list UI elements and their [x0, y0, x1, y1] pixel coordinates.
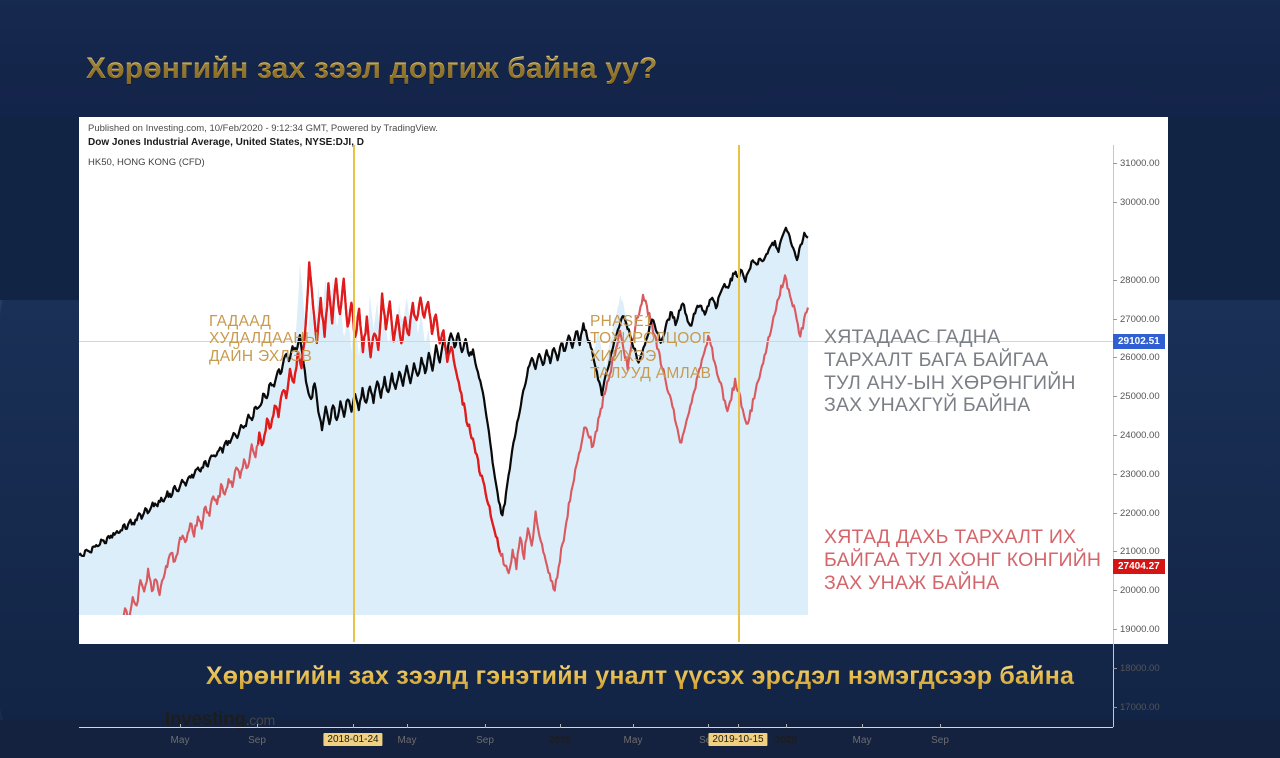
slide-subtitle: Хөрөнгийн зах зээлд гэнэтийн уналт үүсэх… [0, 662, 1280, 691]
price-tick-dash [1113, 396, 1117, 397]
watermark-suffix: .com [246, 712, 275, 728]
price-tick-label: 31000.00 [1120, 158, 1160, 169]
price-tick-dash [1113, 280, 1117, 281]
time-tick [940, 724, 941, 728]
time-tick-label: May [624, 735, 643, 746]
chart-panel: Published on Investing.com, 10/Feb/2020 … [79, 117, 1168, 644]
price-tick: 22000.00 [1113, 508, 1168, 520]
time-axis[interactable]: MaySep2018-01-24MaySep2019MaySep2019-10-… [79, 727, 1113, 758]
price-tick: 27000.00 [1113, 314, 1168, 326]
price-tick-dash [1113, 319, 1117, 320]
time-tick-label: 2019 [549, 735, 571, 746]
price-tick-label: 25000.00 [1120, 391, 1160, 402]
page-title: Хөрөнгийн зах зээл доргиж байна уу? [86, 52, 658, 86]
time-tick-label: 2020 [775, 735, 797, 746]
price-tick: 21000.00 [1113, 546, 1168, 558]
price-tick: 28000.00 [1113, 275, 1168, 287]
price-tick-label: 30000.00 [1120, 197, 1160, 208]
chart-published-label: Published on Investing.com, 10/Feb/2020 … [88, 123, 438, 134]
price-tick-dash [1113, 474, 1117, 475]
time-tick-label: Sep [248, 735, 266, 746]
price-tick-label: 26000.00 [1120, 352, 1160, 363]
price-tick: 20000.00 [1113, 585, 1168, 597]
price-tick-dash [1113, 668, 1117, 669]
price-tick-label: 28000.00 [1120, 275, 1160, 286]
price-tick: 30000.00 [1113, 197, 1168, 209]
time-tick [485, 724, 486, 728]
price-tick-label: 24000.00 [1120, 430, 1160, 441]
price-tick-dash [1113, 435, 1117, 436]
annotation-phase1: PHASE1 ТОХИРОЛЦООГ ХИЙХЭЭ ТАЛУУД АМЛАВ [590, 313, 711, 382]
price-tick-dash [1113, 707, 1117, 708]
time-tick [257, 724, 258, 728]
price-tick: 19000.00 [1113, 624, 1168, 636]
time-tick [786, 724, 787, 728]
price-tick-label: 18000.00 [1120, 663, 1160, 674]
time-tick-label: Sep [931, 735, 949, 746]
price-tick: 31000.00 [1113, 158, 1168, 170]
price-axis[interactable]: 31000.0030000.0028000.0027000.0026000.00… [1113, 145, 1168, 727]
event-line-2018-01-24 [353, 145, 355, 642]
price-tick-dash [1113, 513, 1117, 514]
price-tick-dash [1113, 163, 1117, 164]
annotation-trade-war: ГАДААД ХУДАЛДААНЫ ДАЙН ЭХЛЭВ [209, 313, 319, 365]
price-tick-label: 27000.00 [1120, 314, 1160, 325]
event-line-2019-10-15 [738, 145, 740, 642]
time-tick-label: May [398, 735, 417, 746]
time-tick-label: 2018-01-24 [323, 733, 382, 746]
price-tick-dash [1113, 357, 1117, 358]
price-tick-dash [1113, 551, 1117, 552]
price-tick: 25000.00 [1113, 391, 1168, 403]
chart-shaded-area [79, 228, 808, 615]
price-tick-label: 19000.00 [1120, 624, 1160, 635]
time-tick [738, 724, 739, 728]
annotation-us-market: ХЯТАДААС ГАДНА ТАРХАЛТ БАГА БАЙГАА ТУЛ А… [824, 326, 1076, 417]
price-tick-label: 21000.00 [1120, 546, 1160, 557]
time-tick [633, 724, 634, 728]
time-tick-label: Sep [476, 735, 494, 746]
price-tick: 24000.00 [1113, 430, 1168, 442]
time-tick-label: May [171, 735, 190, 746]
time-tick [862, 724, 863, 728]
dji-price-badge[interactable]: 29102.51 [1113, 334, 1165, 349]
price-tick-label: 20000.00 [1120, 585, 1160, 596]
price-tick: 17000.00 [1113, 702, 1168, 714]
price-tick-label: 23000.00 [1120, 469, 1160, 480]
price-tick: 18000.00 [1113, 663, 1168, 675]
annotation-hk-market: ХЯТАД ДАХЬ ТАРХАЛТ ИХ БАЙГАА ТУЛ ХОНГ КО… [824, 526, 1101, 594]
price-tick: 23000.00 [1113, 469, 1168, 481]
time-tick [708, 724, 709, 728]
price-tick-label: 17000.00 [1120, 702, 1160, 713]
time-tick [180, 724, 181, 728]
time-tick [407, 724, 408, 728]
hk-price-badge[interactable]: 27404.27 [1113, 559, 1165, 574]
time-tick-label: May [853, 735, 872, 746]
price-tick-label: 22000.00 [1120, 508, 1160, 519]
price-tick-dash [1113, 629, 1117, 630]
price-tick-dash [1113, 590, 1117, 591]
price-tick: 26000.00 [1113, 352, 1168, 364]
price-tick-dash [1113, 202, 1117, 203]
time-tick [560, 724, 561, 728]
time-tick-label: 2019-10-15 [708, 733, 767, 746]
time-tick [353, 724, 354, 728]
